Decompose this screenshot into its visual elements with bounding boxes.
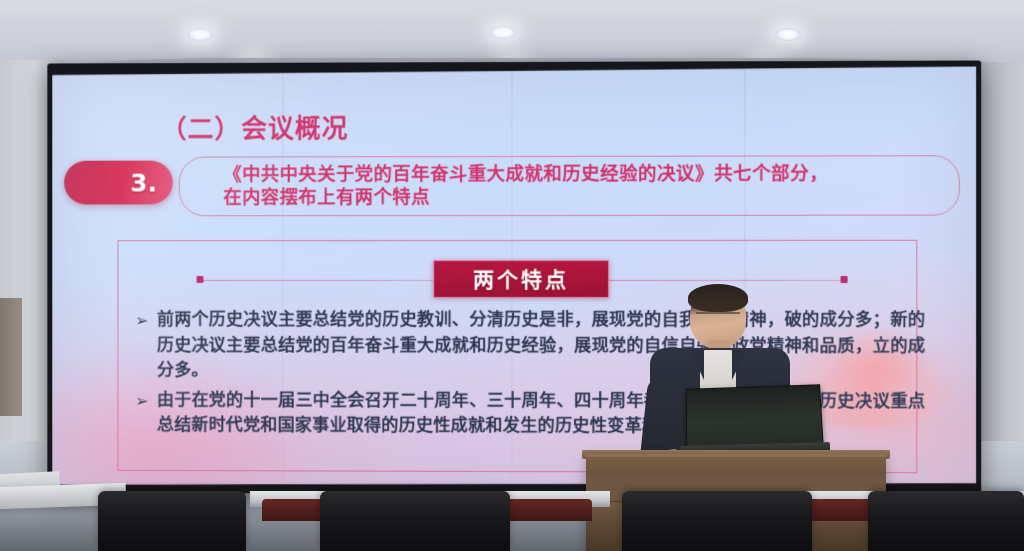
banner-connector-left <box>202 280 433 281</box>
ceiling-light <box>775 28 801 41</box>
presenter-lapel-left <box>690 350 704 380</box>
slide-header-line-2: 在内容摆布上有两个特点 <box>223 185 942 209</box>
audience-chair <box>868 491 1024 551</box>
arrow-bullet-icon: ➢ <box>135 309 148 334</box>
presenter-lapel-right <box>732 350 746 380</box>
two-features-banner: 两个特点 <box>433 260 609 298</box>
banner-connector-right <box>609 280 842 281</box>
slide-title: （二）会议概况 <box>161 108 349 145</box>
section-number-badge: 3. <box>64 161 173 205</box>
conference-room-scene: （二）会议概况 3. 《中共中央关于党的百年奋斗重大成就和历史经验的决议》共七个… <box>0 0 1024 551</box>
banner-connector-dot-right <box>841 276 848 283</box>
audience-chair <box>320 491 510 551</box>
presenter-glasses <box>696 312 740 321</box>
audience-chair <box>98 491 246 551</box>
arrow-bullet-icon: ➢ <box>135 389 148 414</box>
two-features-banner-label: 两个特点 <box>473 264 569 294</box>
ceiling-light <box>490 26 516 39</box>
slide-header-pill: 《中共中央关于党的百年奋斗重大成就和历史经验的决议》共七个部分， 在内容摆布上有… <box>179 155 960 216</box>
slide-header-line-1: 《中共中央关于党的百年奋斗重大成就和历史经验的决议》共七个部分， <box>223 162 942 186</box>
section-number-label: 3. <box>130 168 157 197</box>
wall-panel-accent <box>0 298 22 416</box>
audience-chair <box>622 491 812 551</box>
ceiling-light <box>187 28 213 41</box>
banner-connector-dot-left <box>197 276 204 283</box>
presenter-hair <box>688 284 748 312</box>
